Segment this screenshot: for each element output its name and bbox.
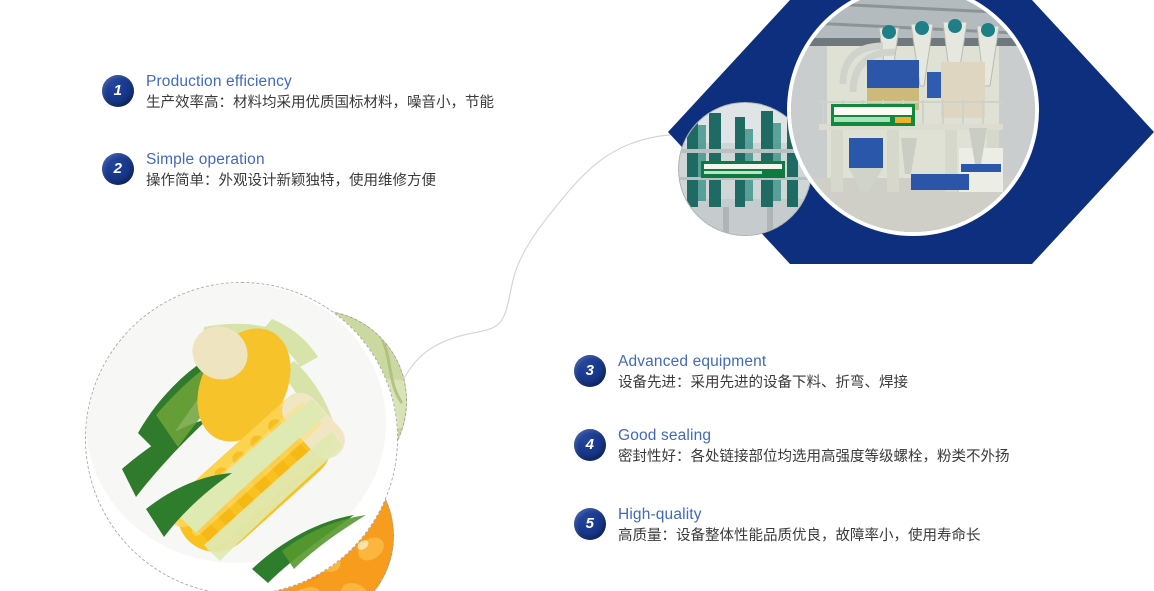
feature-text-3: Advanced equipment 设备先进：采用先进的设备下料、折弯、焊接	[618, 352, 908, 394]
feature-item-3: 3 Advanced equipment 设备先进：采用先进的设备下料、折弯、焊…	[574, 352, 908, 394]
feature-desc-cn-2: 操作简单：外观设计新颖独特，使用维修方便	[146, 171, 436, 192]
feature-title-en-3: Advanced equipment	[618, 352, 908, 371]
feature-text-2: Simple operation 操作简单：外观设计新颖独特，使用维修方便	[146, 150, 436, 192]
feature-title-en-4: Good sealing	[618, 426, 1010, 445]
feature-item-5: 5 High-quality 高质量：设备整体性能品质优良，故障率小，使用寿命长	[574, 505, 981, 547]
infographic-page: 1 Production efficiency 生产效率高：材料均采用优质国标材…	[0, 0, 1154, 591]
feature-desc-cn-3: 设备先进：采用先进的设备下料、折弯、焊接	[618, 373, 908, 394]
feature-desc-cn-1: 生产效率高：材料均采用优质国标材料，噪音小，节能	[146, 93, 494, 114]
feature-desc-cn-4: 密封性好：各处链接部位均选用高强度等级螺栓，粉类不外扬	[618, 447, 1010, 468]
feature-badge-2: 2	[102, 153, 134, 185]
feature-badge-4: 4	[574, 429, 606, 461]
feature-text-1: Production efficiency 生产效率高：材料均采用优质国标材料，…	[146, 72, 494, 114]
machinery-media-cluster	[660, 0, 1154, 270]
feature-text-4: Good sealing 密封性好：各处链接部位均选用高强度等级螺栓，粉类不外扬	[618, 426, 1010, 468]
feature-badge-3: 3	[574, 355, 606, 387]
corn-media-cluster	[85, 282, 485, 591]
feature-item-2: 2 Simple operation 操作简单：外观设计新颖独特，使用维修方便	[102, 150, 436, 192]
feature-text-5: High-quality 高质量：设备整体性能品质优良，故障率小，使用寿命长	[618, 505, 981, 547]
feature-title-en-1: Production efficiency	[146, 72, 494, 91]
feature-title-en-2: Simple operation	[146, 150, 436, 169]
feature-item-1: 1 Production efficiency 生产效率高：材料均采用优质国标材…	[102, 72, 494, 114]
flour-mill-plant-photo	[791, 0, 1035, 232]
feature-desc-cn-5: 高质量：设备整体性能品质优良，故障率小，使用寿命长	[618, 526, 981, 547]
feature-title-en-5: High-quality	[618, 505, 981, 524]
feature-item-4: 4 Good sealing 密封性好：各处链接部位均选用高强度等级螺栓，粉类不…	[574, 426, 1010, 468]
fresh-corn-cob-photo	[85, 282, 398, 591]
feature-badge-1: 1	[102, 75, 134, 107]
feature-badge-5: 5	[574, 508, 606, 540]
